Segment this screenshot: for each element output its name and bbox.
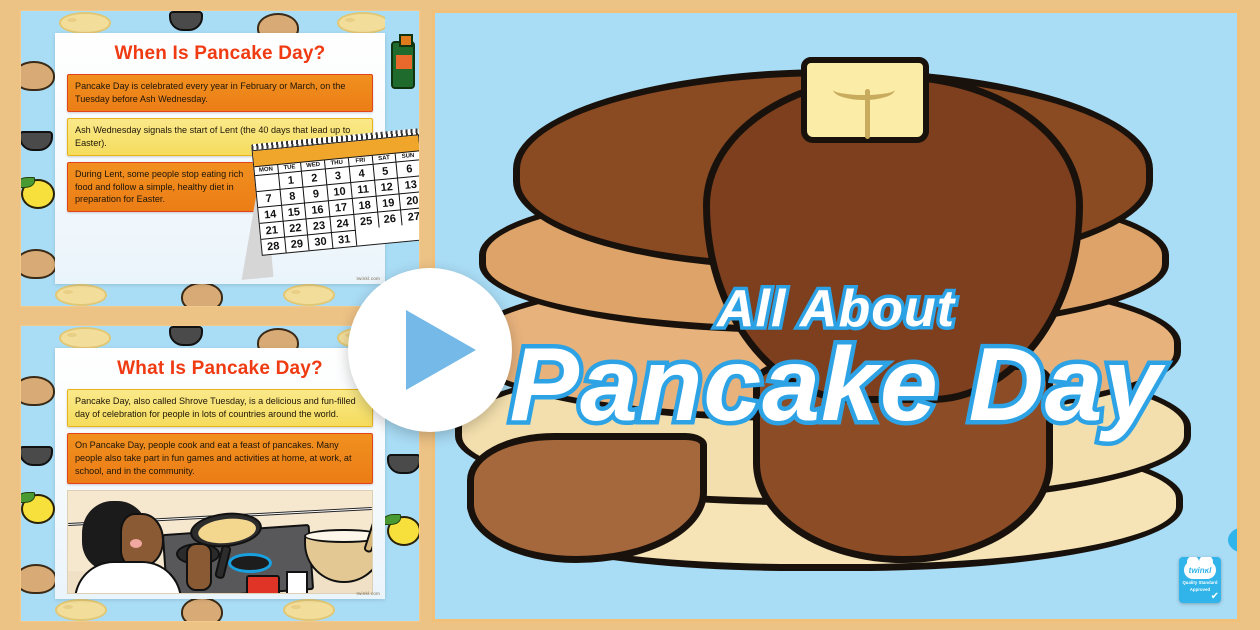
play-triangle-icon [406,310,476,390]
slide-title: When Is Pancake Day? [67,43,373,65]
calendar-date-cell: 31 [332,230,357,248]
badge-line-2: Approved [1190,588,1210,593]
calendar-date-cell: 28 [261,237,286,255]
egg-icon [21,249,55,279]
twinkl-logo-text: twinkl [1225,516,1240,560]
pancake-icon [59,327,111,349]
lemon-icon [21,494,55,524]
frying-pan-icon [169,11,203,31]
frying-pan-icon [21,131,53,151]
calendar-date-cell: 20 [400,191,420,209]
calendar-date-cell: 25 [354,212,379,230]
cooking-illustration [67,490,373,594]
person-arm [186,543,212,591]
quality-standard-badge: twinkl Quality Standard Approved ✔ [1179,557,1221,603]
slide-border-left [21,326,55,621]
egg-icon [21,61,55,91]
slide-title: What Is Pancake Day? [67,358,373,380]
syrup-bottle-icon [391,41,415,89]
calendar-date-grid: .123456789101112131415161718192021222324… [255,159,420,255]
frying-pan-icon [21,446,53,466]
pancake-icon [283,599,335,621]
egg-icon [181,282,223,306]
person-face [120,513,164,567]
milk-carton [286,571,308,594]
slide-text-box: Pancake Day, also called Shrove Tuesday,… [67,389,373,427]
pancake-in-pan [197,515,257,545]
person-cheek [130,539,142,548]
pancake-icon [59,12,111,34]
calendar-date-cell: 26 [378,209,403,227]
slide-text-box: Pancake Day is celebrated every year in … [67,74,373,112]
calendar-body: MONTUEWEDTHUFRISATSUN .12345678910111213… [252,134,420,256]
badge-line-1: Quality Standard [1182,581,1217,586]
calendar-date-cell: 27 [401,207,420,225]
egg-icon [21,564,55,594]
gas-flame-icon [228,553,272,573]
butter-pat-icon [801,57,929,143]
slide-text-box: On Pancake Day, people cook and eat a fe… [67,433,373,484]
pancake-icon [337,12,389,34]
main-preview-panel[interactable]: All About Pancake Day twinkl twinkl Qual… [432,10,1240,622]
badge-brand-text: twinkl [1189,566,1212,575]
ingredient-carton [246,575,280,594]
egg-icon [21,376,55,406]
calendar-date-cell: 30 [308,232,333,250]
lemon-icon [21,179,55,209]
mixing-bowl-rim [304,529,373,543]
calendar-date-cell: 13 [398,175,420,193]
check-icon: ✔ [1211,591,1219,602]
slide-thumbnail-when-is-pancake-day[interactable]: When Is Pancake Day? Pancake Day is cele… [20,10,420,307]
pancake-icon [55,284,107,306]
pancake-stack-illustration [453,33,1223,593]
badge-cloud-icon: twinkl [1184,561,1216,579]
pancake-icon [55,599,107,621]
play-button[interactable] [348,268,512,432]
slide-border-left [21,11,55,306]
twinkl-logo: twinkl [1225,516,1240,560]
slide-credit: twinkl.com [357,591,380,596]
slide-content-area: What Is Pancake Day? Pancake Day, also c… [55,348,385,599]
frying-pan-icon [387,454,419,474]
calendar-date-cell: 29 [285,234,310,252]
egg-icon [181,597,223,621]
frying-pan-icon [169,326,203,346]
lemon-icon [387,516,419,546]
